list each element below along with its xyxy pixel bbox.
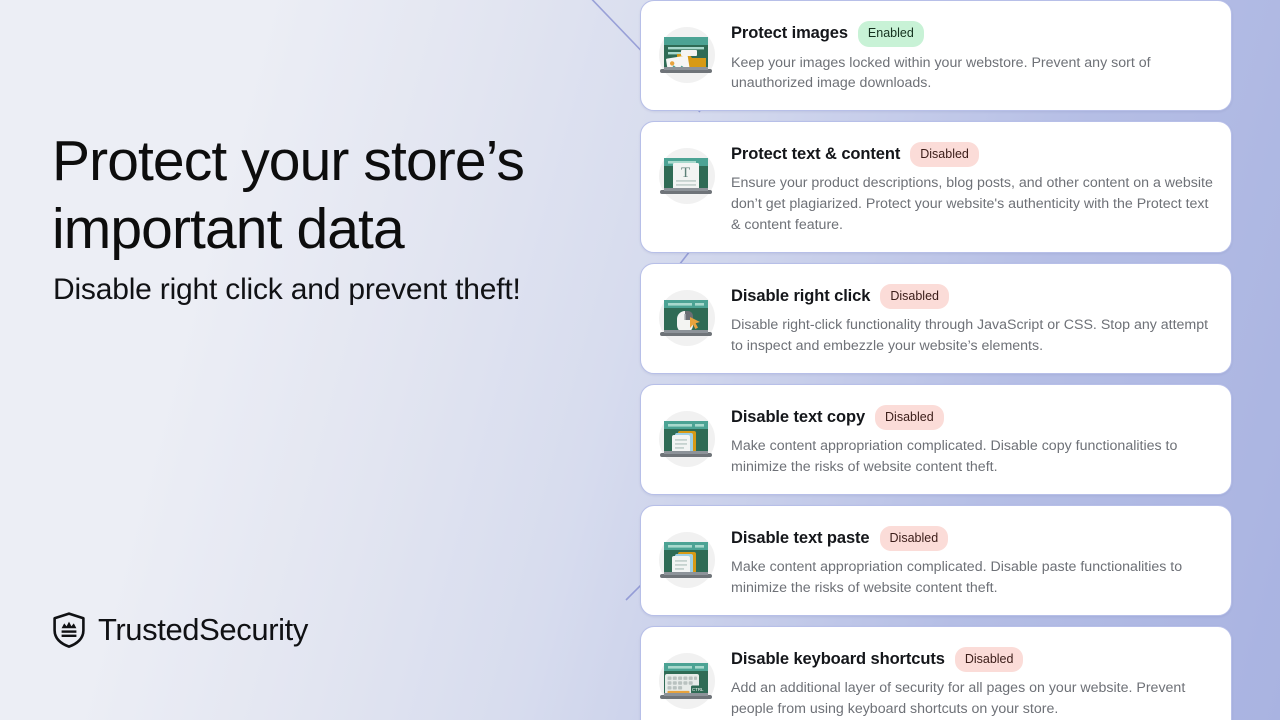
card-content: Disable text paste Disabled Make content…	[731, 520, 1213, 599]
laptop-keyboard-ctrl-icon: CTRL	[655, 649, 719, 713]
feature-description: Disable right-click functionality throug…	[731, 315, 1213, 356]
feature-description: Make content appropriation complicated. …	[731, 557, 1213, 598]
feature-title: Protect images	[731, 24, 848, 43]
laptop-text-document-icon: T	[655, 144, 719, 208]
status-badge: Disabled	[875, 405, 944, 431]
status-badge: Disabled	[880, 284, 949, 310]
card-content: Disable right click Disabled Disable rig…	[731, 278, 1213, 357]
headline-line-1: Protect your store’s	[52, 129, 524, 193]
feature-description: Make content appropriation complicated. …	[731, 436, 1213, 477]
svg-text:CTRL: CTRL	[692, 687, 704, 692]
feature-description: Add an additional layer of security for …	[731, 678, 1213, 719]
card-header: Protect text & content Disabled	[731, 142, 1213, 168]
status-badge: Disabled	[955, 647, 1024, 673]
card-content: Disable text copy Disabled Make content …	[731, 399, 1213, 478]
brand-logo: TrustedSecurity	[52, 612, 308, 648]
headline-line-2: important data	[52, 197, 404, 261]
feature-title: Disable keyboard shortcuts	[731, 650, 945, 669]
svg-text:T: T	[681, 165, 690, 181]
status-badge: Disabled	[910, 142, 979, 168]
page-title: Protect your store’s important data	[52, 128, 632, 264]
laptop-image-folder-icon	[655, 23, 719, 87]
feature-card-disable-text-paste[interactable]: Disable text paste Disabled Make content…	[640, 505, 1232, 616]
feature-description: Keep your images locked within your webs…	[731, 53, 1183, 94]
card-header: Disable keyboard shortcuts Disabled	[731, 647, 1213, 673]
card-header: Disable text copy Disabled	[731, 405, 1213, 431]
card-header: Disable text paste Disabled	[731, 526, 1213, 552]
feature-title: Disable right click	[731, 287, 870, 306]
feature-card-protect-text-content[interactable]: T Protect text & content Disabled Ensure…	[640, 121, 1232, 253]
brand-name: TrustedSecurity	[98, 612, 308, 648]
status-badge: Enabled	[858, 21, 924, 47]
feature-card-disable-keyboard-shortcuts[interactable]: CTRL Disable keyboard shortcuts Disabled…	[640, 626, 1232, 720]
page-subtitle: Disable right click and prevent theft!	[53, 272, 521, 308]
feature-title: Disable text copy	[731, 408, 865, 427]
feature-title: Protect text & content	[731, 145, 900, 164]
laptop-copy-pages-icon	[655, 407, 719, 471]
feature-description: Ensure your product descriptions, blog p…	[731, 173, 1213, 235]
shield-crown-icon	[52, 612, 86, 648]
feature-card-list: Protect images Enabled Keep your images …	[640, 0, 1240, 720]
feature-card-disable-right-click[interactable]: Disable right click Disabled Disable rig…	[640, 263, 1232, 374]
card-content: Protect text & content Disabled Ensure y…	[731, 136, 1213, 236]
feature-card-protect-images[interactable]: Protect images Enabled Keep your images …	[640, 0, 1232, 111]
feature-title: Disable text paste	[731, 529, 870, 548]
card-header: Protect images Enabled	[731, 21, 1213, 47]
card-content: Disable keyboard shortcuts Disabled Add …	[731, 641, 1213, 720]
laptop-paste-pages-icon	[655, 528, 719, 592]
laptop-mouse-cursor-icon	[655, 286, 719, 350]
card-content: Protect images Enabled Keep your images …	[731, 15, 1213, 94]
status-badge: Disabled	[880, 526, 949, 552]
hero-panel: Protect your store’s important data Disa…	[52, 0, 652, 720]
card-header: Disable right click Disabled	[731, 284, 1213, 310]
feature-card-disable-text-copy[interactable]: Disable text copy Disabled Make content …	[640, 384, 1232, 495]
